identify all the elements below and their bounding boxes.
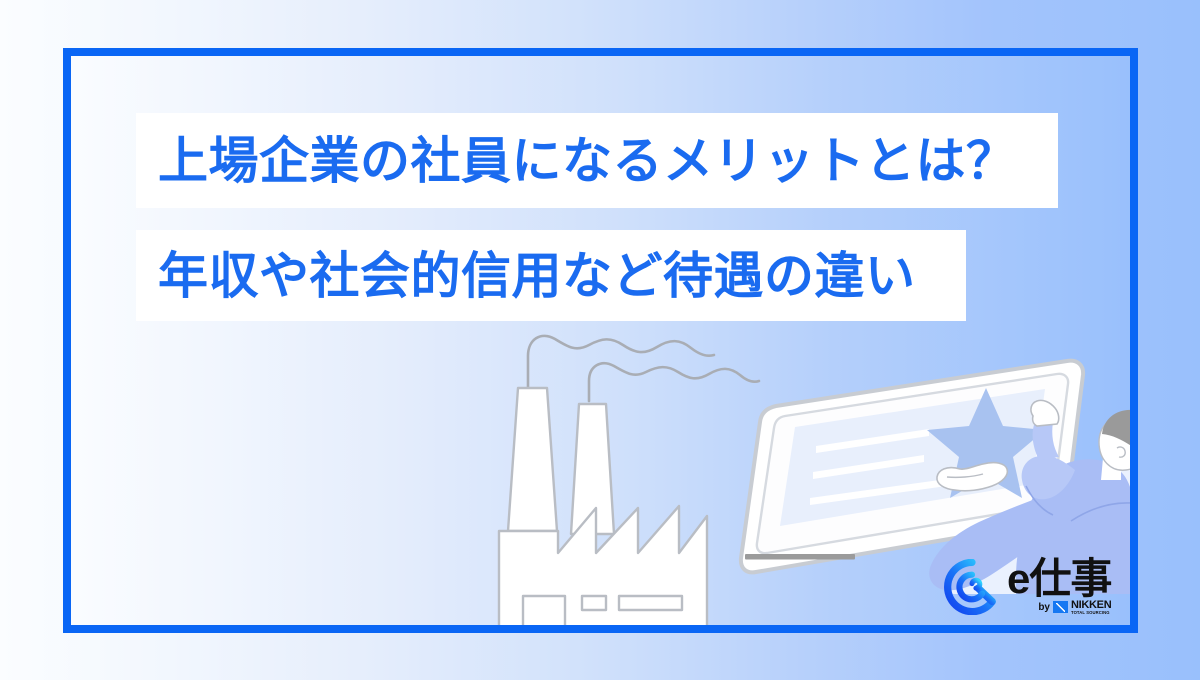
nikken-text-group: NIKKEN TOTAL SOURCING bbox=[1071, 600, 1111, 615]
blue-border-frame: 上場企業の社員になるメリットとは？ 年収や社会的信用など待遇の違い e仕事 bbox=[63, 48, 1138, 633]
gray-divider-bar bbox=[745, 554, 855, 560]
headline-box-primary: 上場企業の社員になるメリットとは？ bbox=[136, 113, 1058, 208]
tablet-illustration bbox=[741, 361, 1083, 573]
factory-illustration bbox=[499, 388, 707, 625]
logo-wordmark: e仕事 bbox=[1007, 559, 1111, 599]
smoke-waves bbox=[528, 336, 759, 401]
logo-wordmark-group: e仕事 by NIKKEN TOTAL SOURCING bbox=[1007, 559, 1111, 615]
tablet-screen-lines bbox=[810, 429, 954, 505]
nikken-badge-icon bbox=[1053, 601, 1068, 613]
star-icon bbox=[927, 388, 1045, 498]
logo-parent-row: by NIKKEN TOTAL SOURCING bbox=[1038, 600, 1111, 615]
headline-line-2: 年収や社会的信用など待遇の違い bbox=[136, 251, 916, 301]
e-shigoto-spiral-mark bbox=[944, 559, 1000, 615]
nikken-tagline: TOTAL SOURCING bbox=[1071, 611, 1111, 615]
headline-line-1: 上場企業の社員になるメリットとは？ bbox=[136, 136, 1017, 186]
e-shigoto-logo[interactable]: e仕事 by NIKKEN TOTAL SOURCING bbox=[944, 548, 1116, 626]
logo-by-label: by bbox=[1038, 602, 1050, 613]
headline-box-secondary: 年収や社会的信用など待遇の違い bbox=[136, 230, 966, 321]
